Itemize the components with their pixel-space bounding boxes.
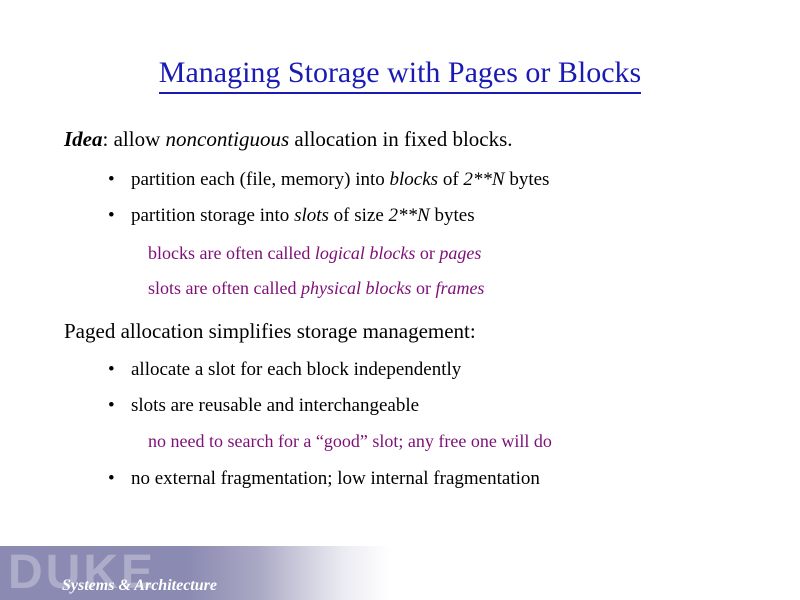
- note-em1: logical blocks: [315, 243, 415, 263]
- paged-allocation-line: Paged allocation simplifies storage mana…: [0, 318, 800, 344]
- list-item-em2: 2**N: [463, 169, 504, 190]
- note-mid: or: [415, 243, 439, 263]
- list-item: •slots are reusable and interchangeable: [0, 394, 800, 418]
- footer-tagline: Systems & Architecture: [62, 576, 217, 596]
- list-item: •partition each (file, memory) into bloc…: [0, 168, 800, 192]
- slide-body: Idea: allow noncontiguous allocation in …: [0, 126, 800, 491]
- note-line: slots are often called physical blocks o…: [0, 277, 800, 300]
- list-item-em2: 2**N: [389, 205, 430, 226]
- list-item: •allocate a slot for each block independ…: [0, 358, 800, 382]
- note-em2: pages: [439, 243, 481, 263]
- note-mid: or: [411, 278, 435, 298]
- list-item: •partition storage into slots of size 2*…: [0, 204, 800, 228]
- list-item-text: no external fragmentation; low internal …: [131, 468, 540, 489]
- note-line: no need to search for a “good” slot; any…: [0, 430, 800, 453]
- note-line: blocks are often called logical blocks o…: [0, 242, 800, 265]
- list-item-text: slots are reusable and interchangeable: [131, 395, 419, 416]
- list-item-em1: slots: [294, 205, 329, 226]
- footer-banner: DUKE Systems & Architecture: [0, 546, 390, 600]
- list-item-post: bytes: [430, 205, 475, 226]
- list-item-pre: partition each (file, memory) into: [131, 169, 390, 190]
- idea-lead: Idea: [64, 127, 103, 151]
- bullet-marker: •: [108, 204, 115, 228]
- note-em2: frames: [435, 278, 484, 298]
- bullet-marker: •: [108, 394, 115, 418]
- note-pre: slots are often called: [148, 278, 301, 298]
- note-em1: physical blocks: [301, 278, 411, 298]
- list-item-pre: partition storage into: [131, 205, 294, 226]
- bullet-marker: •: [108, 467, 115, 491]
- idea-tail: allocation in fixed blocks.: [289, 127, 512, 151]
- slide-title: Managing Storage with Pages or Blocks: [0, 56, 800, 94]
- bullet-marker: •: [108, 358, 115, 382]
- list-item-em1: blocks: [390, 169, 439, 190]
- slide-title-text: Managing Storage with Pages or Blocks: [159, 56, 641, 94]
- list-item-text: allocate a slot for each block independe…: [131, 359, 461, 380]
- list-item-mid: of: [438, 169, 463, 190]
- bullet-marker: •: [108, 168, 115, 192]
- idea-after-lead: : allow: [103, 127, 166, 151]
- idea-emphasis: noncontiguous: [166, 127, 290, 151]
- list-item-mid: of size: [329, 205, 389, 226]
- note-pre: blocks are often called: [148, 243, 315, 263]
- idea-line: Idea: allow noncontiguous allocation in …: [0, 126, 800, 152]
- list-item-post: bytes: [505, 169, 550, 190]
- list-item: •no external fragmentation; low internal…: [0, 467, 800, 491]
